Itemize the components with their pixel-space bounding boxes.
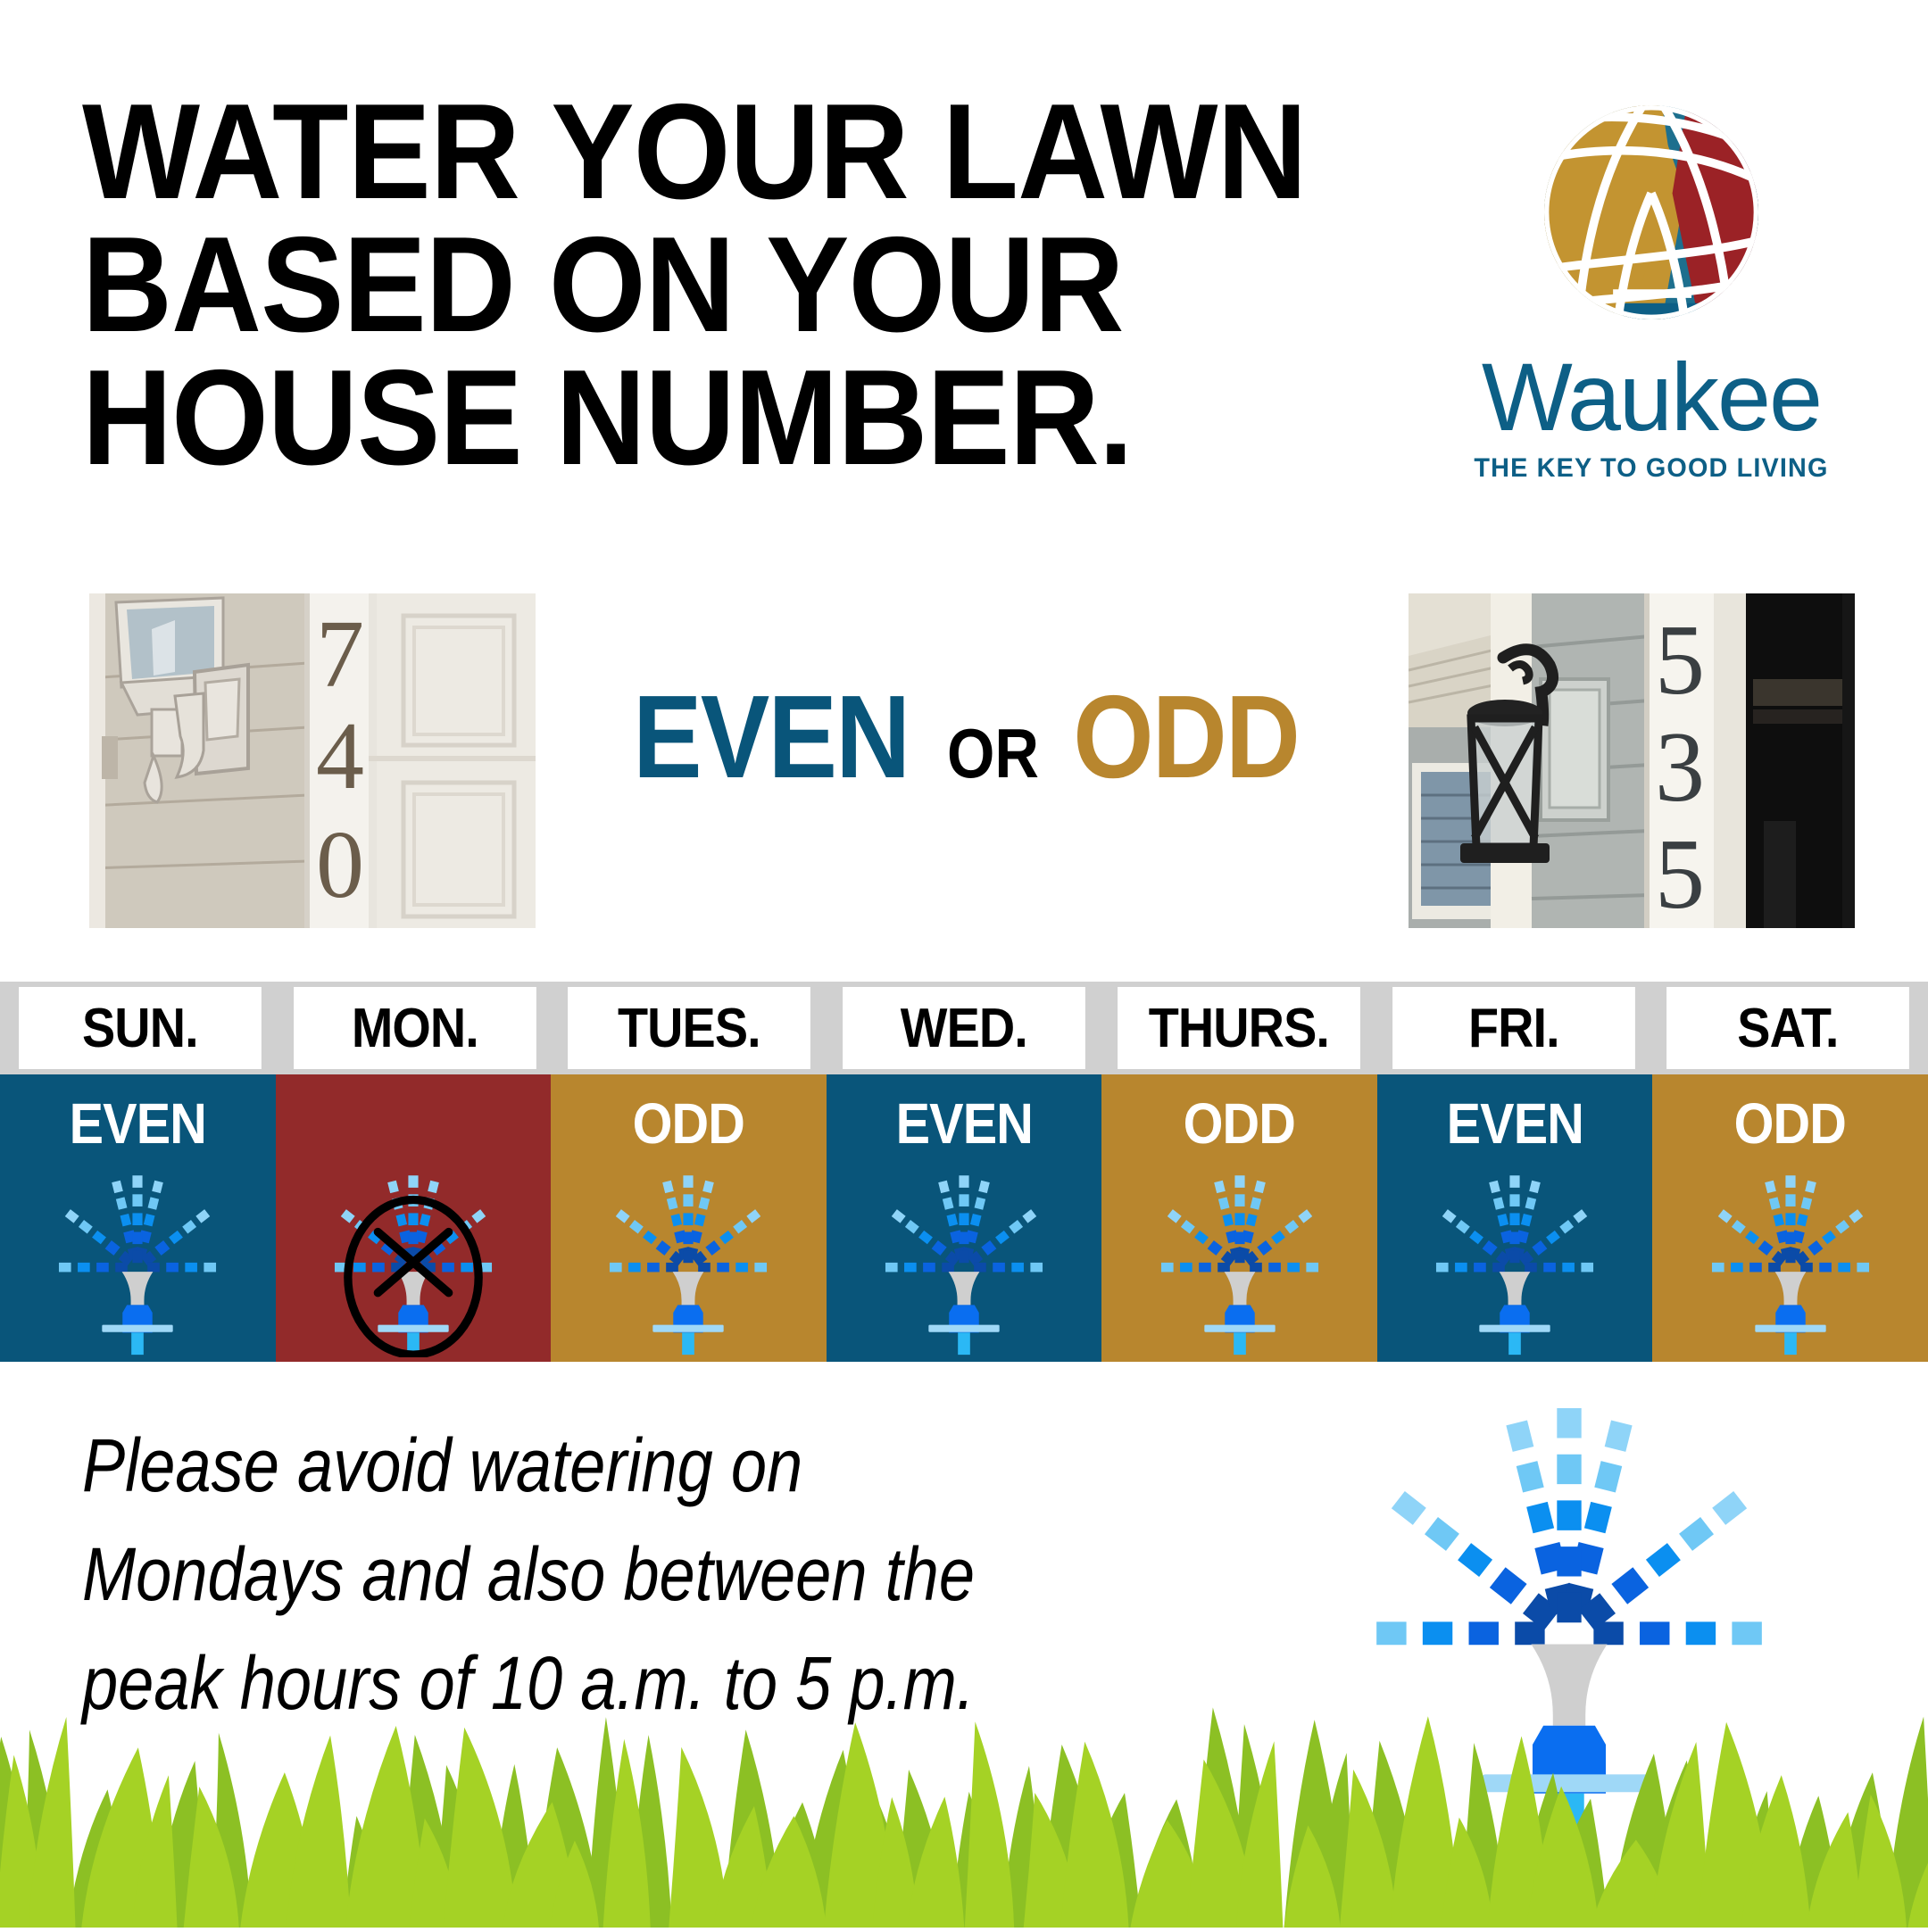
schedule-day-thurs: ODD (1101, 1074, 1377, 1362)
schedule-day-sun: EVEN (0, 1074, 276, 1362)
even-or-odd-heading: EVENORODD (553, 678, 1375, 796)
note-line-2: Mondays and also between the (82, 1521, 1080, 1629)
schedule-day-mon (276, 1074, 552, 1362)
schedule-day-label: EVEN (1391, 1090, 1639, 1157)
page-title: WATER YOUR LAWN BASED ON YOUR HOUSE NUMB… (82, 86, 1298, 485)
schedule-day-label: ODD (565, 1090, 813, 1157)
house-number-photo-even: 7 4 0 (89, 593, 536, 928)
schedule-header-row: SUN. MON. TUES. WED. THURS. FRI. SAT. (0, 982, 1928, 1074)
page-title-line-3: HOUSE NUMBER. (82, 352, 1298, 485)
page-title-line-1: WATER YOUR LAWN (82, 86, 1298, 219)
schedule-day-tues: ODD (551, 1074, 827, 1362)
odd-label: ODD (1073, 678, 1299, 796)
svg-text:3: 3 (1655, 712, 1705, 823)
svg-text:4: 4 (316, 703, 364, 809)
schedule-day-label: EVEN (13, 1090, 262, 1157)
waukee-wordmark: Waukee (1464, 352, 1839, 450)
svg-text:Waukee: Waukee (1482, 352, 1821, 450)
logo-tagline: THE KEY TO GOOD LIVING (1471, 453, 1831, 484)
day-header-wed: WED. (843, 987, 1085, 1069)
waukee-logo: Waukee THE KEY TO GOOD LIVING (1464, 79, 1839, 484)
sprinkler-icon (605, 1174, 771, 1362)
grass-border (0, 1687, 1928, 1928)
schedule-day-label: ODD (1666, 1090, 1915, 1157)
sprinkler-icon (881, 1174, 1047, 1362)
svg-text:5: 5 (1655, 605, 1705, 716)
sprinkler-icon (1708, 1174, 1874, 1362)
watering-schedule: SUN. MON. TUES. WED. THURS. FRI. SAT. EV… (0, 982, 1928, 1362)
schedule-day-sat: ODD (1652, 1074, 1928, 1362)
page-title-line-2: BASED ON YOUR (82, 219, 1298, 352)
waukee-globe-icon (1504, 79, 1799, 346)
day-header-tues: TUES. (569, 987, 811, 1069)
day-header-mon: MON. (294, 987, 536, 1069)
sprinkler-icon (1432, 1174, 1598, 1362)
even-label: EVEN (633, 678, 909, 796)
note-line-1: Please avoid watering on (82, 1412, 1080, 1521)
svg-text:5: 5 (1655, 819, 1705, 928)
schedule-day-wed: EVEN (827, 1074, 1102, 1362)
svg-text:0: 0 (316, 812, 364, 918)
schedule-day-label: EVEN (840, 1090, 1088, 1157)
day-header-thurs: THURS. (1118, 987, 1360, 1069)
schedule-body-row: EVEN ODD EVEN ODD EVEN ODD (0, 1074, 1928, 1362)
schedule-day-fri: EVEN (1377, 1074, 1653, 1362)
schedule-day-label: ODD (1116, 1090, 1364, 1157)
day-header-fri: FRI. (1392, 987, 1635, 1069)
sprinkler-icon (1157, 1174, 1323, 1362)
house-number-photo-odd: 5 3 5 (1409, 593, 1855, 928)
day-header-sun: SUN. (19, 987, 262, 1069)
sprinkler-prohibited-icon (330, 1174, 496, 1362)
day-header-sat: SAT. (1666, 987, 1909, 1069)
sprinkler-icon (54, 1174, 220, 1362)
svg-text:7: 7 (316, 601, 364, 708)
or-label: OR (947, 718, 1039, 788)
